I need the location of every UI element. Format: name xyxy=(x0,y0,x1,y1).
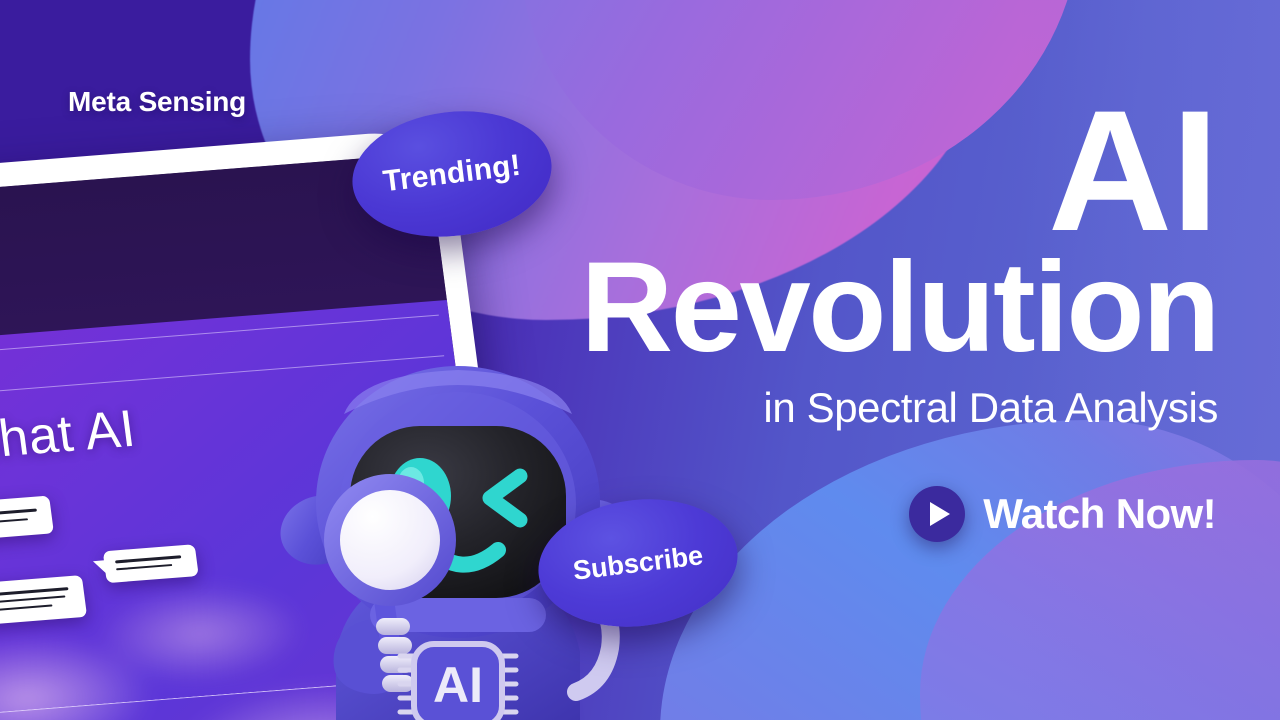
title-line-1: AI xyxy=(498,96,1218,247)
title-line-2: Revolution xyxy=(498,243,1218,374)
thumbnail-canvas: Chat AI xyxy=(0,0,1280,720)
headline-block: AI Revolution in Spectral Data Analysis xyxy=(498,96,1218,432)
watch-now-label: Watch Now! xyxy=(983,490,1216,538)
badge-subscribe-label: Subscribe xyxy=(571,540,704,587)
watch-now-cta[interactable]: Watch Now! xyxy=(909,486,1216,542)
ai-chip-label: AI xyxy=(433,657,483,713)
subtitle: in Spectral Data Analysis xyxy=(498,384,1218,432)
play-icon[interactable] xyxy=(909,486,965,542)
ai-chip-badge: AI xyxy=(400,644,516,720)
brand-name: Meta Sensing xyxy=(68,86,246,118)
play-triangle-icon xyxy=(930,502,950,526)
magnifier-lens xyxy=(332,482,448,598)
